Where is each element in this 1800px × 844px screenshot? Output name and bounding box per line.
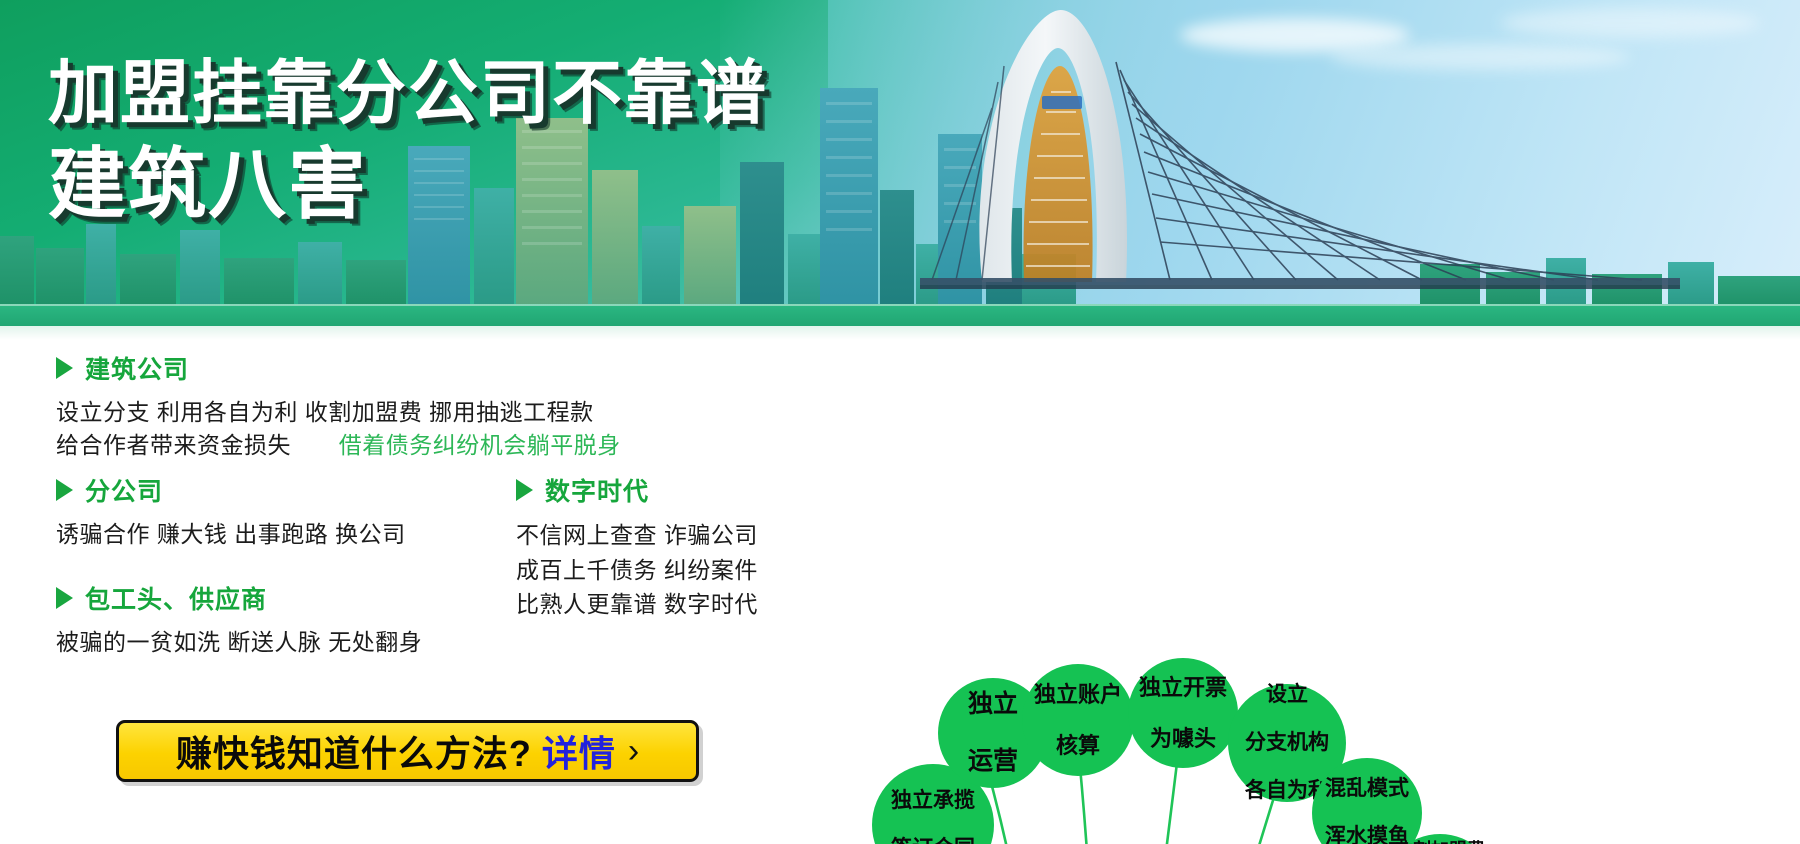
section-heading: 包工头、供应商 [56,580,576,616]
section-heading: 数字时代 [516,472,816,508]
cta-button[interactable]: 赚快钱知道什么方法? 详情 › [116,720,699,782]
triangle-right-icon [56,479,73,501]
content-top-fade [0,326,1800,340]
section-line: 设立分支 利用各自为利 收割加盟费 挪用抽逃工程款 [56,396,826,429]
section-construction-company: 建筑公司 设立分支 利用各自为利 收割加盟费 挪用抽逃工程款 给合作者带来资金损… [56,350,826,461]
section-heading: 建筑公司 [56,350,826,386]
triangle-right-icon [56,357,73,379]
headline-line-1: 加盟挂靠分公司不靠谱 [48,58,768,129]
section-line: 给合作者带来资金损失 借着债务纠纷机会躺平脱身 [56,429,826,462]
bubble-text: 独立开票为噱头 [1131,675,1235,751]
content-area: 建筑公司 设立分支 利用各自为利 收割加盟费 挪用抽逃工程款 给合作者带来资金损… [0,326,1800,844]
section-title: 分公司 [85,472,163,508]
section-line: 被骗的一贫如洗 断送人脉 无处翻身 [56,626,576,659]
bubble-text: 收割加盟费截留挪用抽逃工程款 [1387,840,1493,844]
section-heading: 分公司 [56,472,526,508]
section-title: 建筑公司 [85,350,189,386]
bubble-diagram: 建筑八害 借着使用总公司资质业绩和荣誉 独立承揽签订合同 独立运营 独立账户核算… [810,656,1510,844]
cta-question: 赚快钱知道什么方法? [176,725,532,777]
banner-page: 加盟挂靠分公司不靠谱 建筑八害 建筑公司 设立分支 利用各自为利 收割加盟费 挪… [0,0,1800,844]
left-text-column: 建筑公司 设立分支 利用各自为利 收割加盟费 挪用抽逃工程款 给合作者带来资金损… [56,350,826,487]
section-branch-company: 分公司 诱骗合作 赚大钱 出事跑路 换公司 [56,472,526,551]
bubble-text: 独立运营 [960,690,1026,776]
section-line-part: 给合作者带来资金损失 [56,432,291,458]
bubble-text: 混乱模式浑水摸鱼 [1317,777,1417,844]
bubble-text: 独立承揽签订合同 [883,789,983,844]
ground-hairline [0,304,1800,306]
cta-link-label[interactable]: 详情 [542,725,616,777]
bubble-text: 独立账户核算 [1026,682,1130,758]
section-line: 诱骗合作 赚大钱 出事跑路 换公司 [56,518,526,551]
hero-banner: 加盟挂靠分公司不靠谱 建筑八害 [0,0,1800,326]
chevron-right-icon: › [628,732,639,771]
ground-strip [0,304,1800,326]
headline-line-2: 建筑八害 [48,145,768,225]
section-title: 数字时代 [545,472,649,508]
bridge-illustration [920,4,1680,304]
section-contractor-supplier: 包工头、供应商 被骗的一贫如洗 断送人脉 无处翻身 [56,580,576,659]
triangle-right-icon [56,587,73,609]
triangle-right-icon [516,479,533,501]
section-line: 比熟人更靠谱 数字时代 [516,587,816,622]
section-line-highlight: 借着债务纠纷机会躺平脱身 [339,432,621,458]
section-line: 成百上千债务 纠纷案件 [516,553,816,588]
bubble-b4[interactable]: 独立账户核算 [1022,664,1134,776]
section-digital-era: 数字时代 不信网上查查 诈骗公司 成百上千债务 纠纷案件 比熟人更靠谱 数字时代 [516,472,816,622]
hero-headline: 加盟挂靠分公司不靠谱 建筑八害 [48,58,768,225]
section-title: 包工头、供应商 [85,580,267,616]
bubble-b5[interactable]: 独立开票为噱头 [1128,658,1238,768]
section-line: 不信网上查查 诈骗公司 [516,518,816,553]
